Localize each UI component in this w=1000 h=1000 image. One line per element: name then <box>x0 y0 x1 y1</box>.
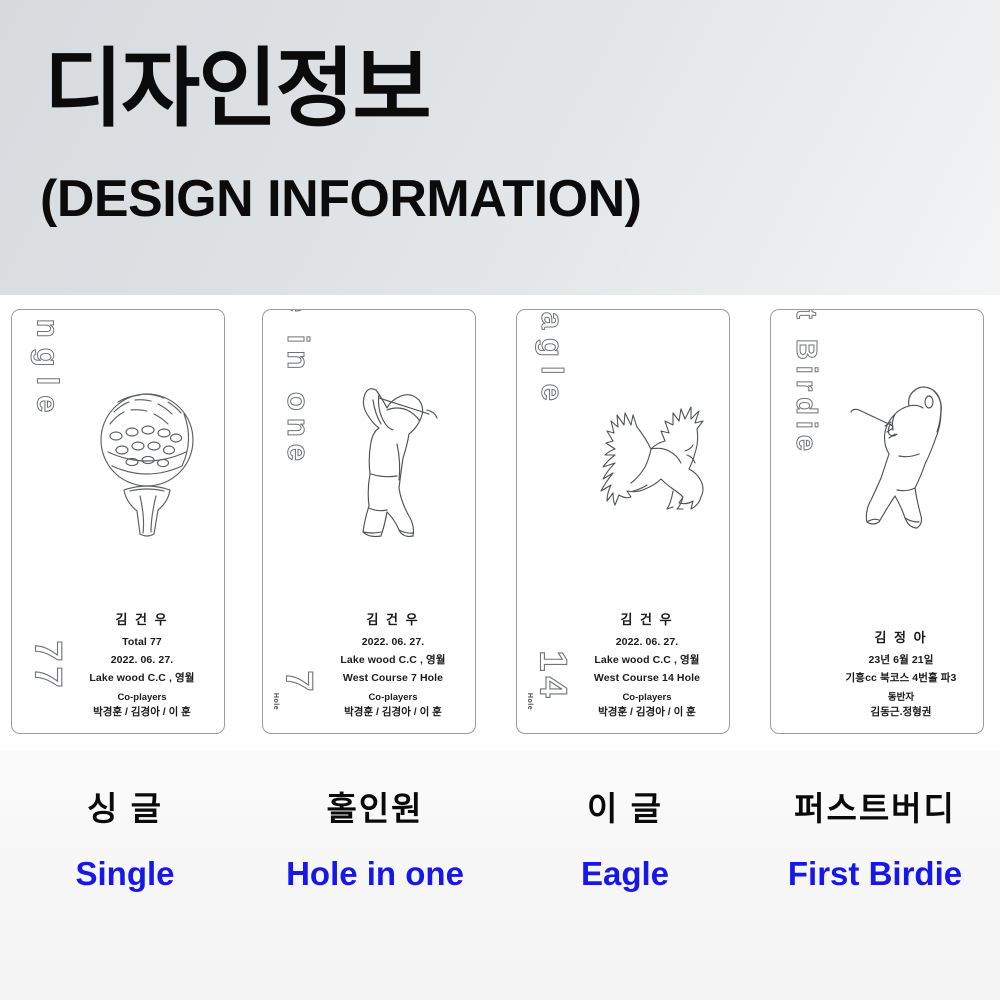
info-line-2: Lake wood C.C , 영월 <box>319 651 467 669</box>
partners-names: 박경훈 / 김경아 / 이 훈 <box>573 705 721 721</box>
english-label-row: Single Hole in one Eagle First Birdie <box>0 855 1000 893</box>
korean-label-row: 싱 글 홀인원 이 글 퍼스트버디 <box>0 782 1000 830</box>
info-line-2: 기흥cc 북코스 4번홀 파3 <box>827 669 975 687</box>
header-banner: 디자인정보 (DESIGN INFORMATION) <box>0 0 1000 295</box>
player-name: 김 정 아 <box>827 627 975 646</box>
info-line-1: 23년 6월 21일 <box>827 651 975 669</box>
label-en-first-birdie: First Birdie <box>788 855 962 892</box>
design-card-strip: Single 77 <box>0 295 1000 750</box>
partners-label: 동반자 <box>827 691 975 705</box>
label-cell-eagle: 이 글 <box>500 782 750 830</box>
player-name: 김 건 우 <box>319 609 467 628</box>
vertical-title-text: Eagle <box>534 309 570 410</box>
info-line-3: Lake wood C.C , 영월 <box>68 669 216 687</box>
partners-label: Co-players <box>319 691 467 705</box>
label-cell-hole-in-one-en: Hole in one <box>250 855 500 893</box>
footer-label-strip: 싱 글 홀인원 이 글 퍼스트버디 Single Hole in one Eag… <box>0 750 1000 1000</box>
partners-label: Co-players <box>573 691 721 705</box>
label-cell-single-en: Single <box>0 855 250 893</box>
info-line-3: West Course 7 Hole <box>319 669 467 687</box>
label-ko-single: 싱 글 <box>87 790 163 827</box>
eagle-bird-icon <box>579 342 725 574</box>
label-cell-first-birdie-en: First Birdie <box>750 855 1000 893</box>
golf-ball-on-tee-icon <box>74 342 220 574</box>
partners-names: 박경훈 / 김경아 / 이 훈 <box>68 705 216 721</box>
partners-names: 박경훈 / 김경아 / 이 훈 <box>319 705 467 721</box>
player-name: 김 건 우 <box>573 609 721 628</box>
label-en-single: Single <box>75 855 174 892</box>
design-information-page: 디자인정보 (DESIGN INFORMATION) Single 77 <box>0 0 1000 1000</box>
card-vertical-title: First Birdie <box>777 328 835 658</box>
label-cell-hole-in-one: 홀인원 <box>250 782 500 830</box>
design-card-first-birdie[interactable]: First Birdie <box>770 309 984 734</box>
label-cell-first-birdie: 퍼스트버디 <box>750 782 1000 830</box>
label-cell-eagle-en: Eagle <box>500 855 750 893</box>
page-title: 디자인정보 <box>44 44 430 134</box>
partners-label: Co-players <box>68 691 216 705</box>
golfer-backswing-icon <box>325 342 471 574</box>
vertical-caption-text: Hole <box>526 692 533 709</box>
card-info-block: 김 정 아 23년 6월 21일 기흥cc 북코스 4번홀 파3 동반자 김동근… <box>827 627 975 721</box>
design-card-eagle[interactable]: Eagle 14 Hole <box>516 309 730 734</box>
vertical-title-text: Hole in one <box>280 309 316 468</box>
info-line-2: 2022. 06. 27. <box>68 651 216 669</box>
label-en-hole-in-one: Hole in one <box>286 855 464 892</box>
player-name: 김 건 우 <box>68 609 216 628</box>
info-line-1: 2022. 06. 27. <box>573 633 721 651</box>
partners-names: 김동근.정형권 <box>827 705 975 721</box>
card-vertical-caption: Hole <box>517 682 543 720</box>
info-line-1: 2022. 06. 27. <box>319 633 467 651</box>
label-en-eagle: Eagle <box>581 855 669 892</box>
vertical-number-text: 77 <box>26 640 69 692</box>
info-line-3: West Course 14 Hole <box>573 669 721 687</box>
golfer-follow-through-icon <box>833 342 979 574</box>
label-ko-first-birdie: 퍼스트버디 <box>794 790 956 827</box>
vertical-caption-text: Hole <box>272 692 279 709</box>
page-subtitle: (DESIGN INFORMATION) <box>40 172 641 227</box>
label-ko-hole-in-one: 홀인원 <box>326 790 423 827</box>
design-card-hole-in-one[interactable]: Hole in one 7 Hole <box>262 309 476 734</box>
label-cell-single: 싱 글 <box>0 782 250 830</box>
card-info-block: 김 건 우 Total 77 2022. 06. 27. Lake wood C… <box>68 609 216 721</box>
card-vertical-caption: Hole <box>263 682 289 720</box>
vertical-title-text: First Birdie <box>790 309 823 457</box>
label-ko-eagle: 이 글 <box>587 790 663 827</box>
info-line-2: Lake wood C.C , 영월 <box>573 651 721 669</box>
design-card-single[interactable]: Single 77 <box>11 309 225 734</box>
card-info-block: 김 건 우 2022. 06. 27. Lake wood C.C , 영월 W… <box>573 609 721 721</box>
vertical-title-text: Single <box>29 309 65 423</box>
card-info-block: 김 건 우 2022. 06. 27. Lake wood C.C , 영월 W… <box>319 609 467 721</box>
info-line-1: Total 77 <box>68 633 216 651</box>
